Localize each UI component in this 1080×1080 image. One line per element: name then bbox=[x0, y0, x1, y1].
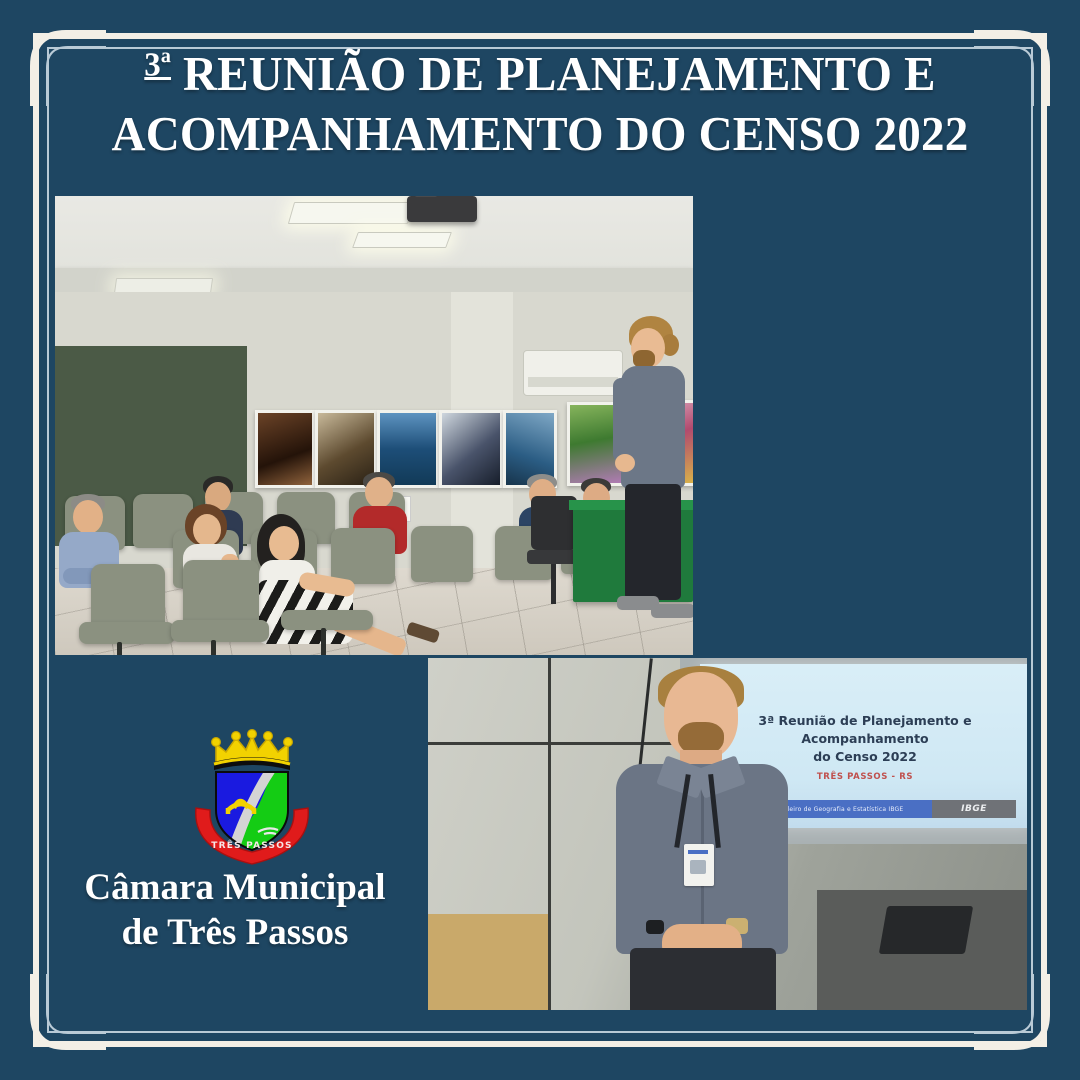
wall-frame-line bbox=[548, 658, 551, 1010]
presentation-room-scene: 3ª Reunião de Planejamento e Acompanhame… bbox=[428, 658, 1027, 1010]
corner-ornament-bottom-left bbox=[20, 974, 106, 1060]
shoe bbox=[651, 604, 693, 618]
head bbox=[73, 500, 103, 534]
ceiling-light-icon bbox=[288, 202, 414, 224]
wooden-desk bbox=[428, 914, 548, 1010]
head bbox=[269, 526, 299, 561]
chair bbox=[411, 526, 473, 582]
projector-icon bbox=[407, 196, 477, 222]
meeting-room-scene bbox=[55, 196, 693, 655]
hand bbox=[615, 454, 635, 472]
laptop-icon bbox=[879, 906, 973, 954]
title-ordinal: 3ª bbox=[144, 46, 171, 84]
ceiling-light-icon bbox=[352, 232, 452, 248]
ibge-logo-text: IBGE bbox=[961, 804, 987, 814]
head bbox=[193, 514, 221, 546]
organization-line-1: Câmara Municipal bbox=[42, 865, 428, 910]
poster-canvas: 3ª REUNIÃO DE PLANEJAMENTO E ACOMPANHAME… bbox=[0, 0, 1080, 1080]
chair bbox=[331, 528, 395, 584]
pants bbox=[630, 948, 776, 1010]
head bbox=[365, 477, 393, 508]
crown-icon bbox=[212, 730, 293, 770]
air-conditioner-icon bbox=[523, 350, 623, 396]
arm bbox=[613, 378, 633, 462]
wristband bbox=[646, 920, 664, 934]
page-title: 3ª REUNIÃO DE PLANEJAMENTO E ACOMPANHAME… bbox=[60, 44, 1020, 164]
title-line-1-text: REUNIÃO DE PLANEJAMENTO E bbox=[171, 46, 936, 101]
title-line-2: ACOMPANHAMENTO DO CENSO 2022 bbox=[79, 104, 1001, 164]
photo-meeting-audience bbox=[55, 196, 693, 655]
ibge-logo: IBGE bbox=[932, 800, 1016, 818]
photo-presenter-slide: 3ª Reunião de Planejamento e Acompanhame… bbox=[428, 658, 1027, 1010]
svg-text:TRÊS PASSOS: TRÊS PASSOS bbox=[211, 839, 292, 851]
presenter-bottom bbox=[606, 666, 802, 1010]
organization-name: Câmara Municipal de Três Passos bbox=[42, 865, 428, 955]
organization-line-2: de Três Passos bbox=[42, 910, 428, 955]
wall-picture bbox=[255, 410, 315, 488]
wall-picture bbox=[439, 410, 503, 488]
brasao-coat-of-arms: TRÊS PASSOS bbox=[182, 722, 322, 868]
title-line-1: 3ª REUNIÃO DE PLANEJAMENTO E bbox=[79, 44, 1001, 104]
id-badge bbox=[684, 844, 714, 886]
legs bbox=[625, 484, 681, 600]
